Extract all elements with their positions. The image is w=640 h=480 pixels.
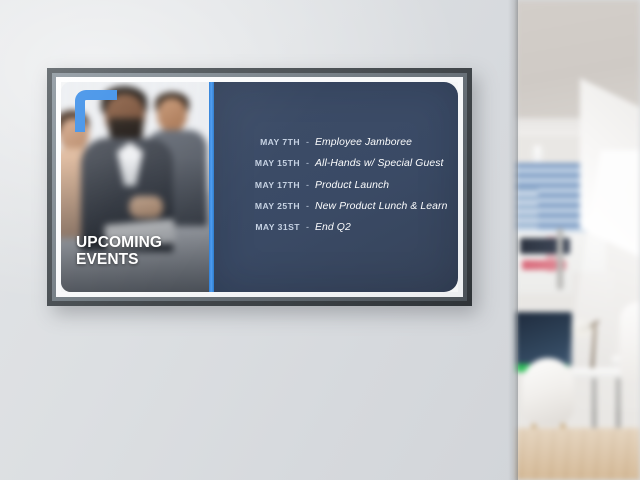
- wall-corner-edge: [508, 0, 518, 480]
- event-name: Employee Jamboree: [315, 137, 412, 148]
- event-row: MAY 7TH-Employee Jamboree: [214, 137, 458, 148]
- floor-light-sheen: [516, 428, 640, 480]
- event-row: MAY 25TH-New Product Lunch & Learn: [214, 201, 458, 212]
- event-separator: -: [300, 137, 315, 147]
- corner-accent-icon: [75, 90, 117, 132]
- event-date: MAY 25TH: [214, 201, 300, 211]
- signage-slide: UPCOMING EVENTS MAY 7TH-Employee Jambore…: [61, 82, 458, 292]
- ceiling-downlight: [535, 146, 540, 162]
- event-date: MAY 7TH: [214, 137, 300, 147]
- events-panel: MAY 7TH-Employee JamboreeMAY 15TH-All-Ha…: [214, 82, 458, 292]
- event-separator: -: [300, 201, 315, 211]
- event-name: All-Hands w/ Special Guest: [315, 158, 444, 169]
- event-name: New Product Lunch & Learn: [315, 201, 447, 212]
- photo-panel: UPCOMING EVENTS: [61, 82, 209, 292]
- events-list: MAY 7TH-Employee JamboreeMAY 15TH-All-Ha…: [214, 82, 458, 292]
- event-row: MAY 31ST-End Q2: [214, 222, 458, 233]
- event-name: Product Launch: [315, 180, 389, 191]
- event-name: End Q2: [315, 222, 351, 233]
- vertical-post: [557, 228, 563, 290]
- slide-title: UPCOMING EVENTS: [76, 235, 202, 268]
- slide-title-line1: UPCOMING: [76, 235, 202, 251]
- event-date: MAY 15TH: [214, 158, 300, 168]
- event-row: MAY 15TH-All-Hands w/ Special Guest: [214, 158, 458, 169]
- office-scene: UPCOMING EVENTS MAY 7TH-Employee Jambore…: [0, 0, 640, 480]
- event-separator: -: [300, 180, 315, 190]
- event-date: MAY 31ST: [214, 222, 300, 232]
- event-separator: -: [300, 158, 315, 168]
- event-separator: -: [300, 222, 315, 232]
- slide-title-line2: EVENTS: [76, 252, 202, 268]
- background-office-interior: [516, 0, 640, 480]
- picture-frame[interactable]: UPCOMING EVENTS MAY 7TH-Employee Jambore…: [47, 68, 472, 306]
- event-row: MAY 17TH-Product Launch: [214, 180, 458, 191]
- event-date: MAY 17TH: [214, 180, 300, 190]
